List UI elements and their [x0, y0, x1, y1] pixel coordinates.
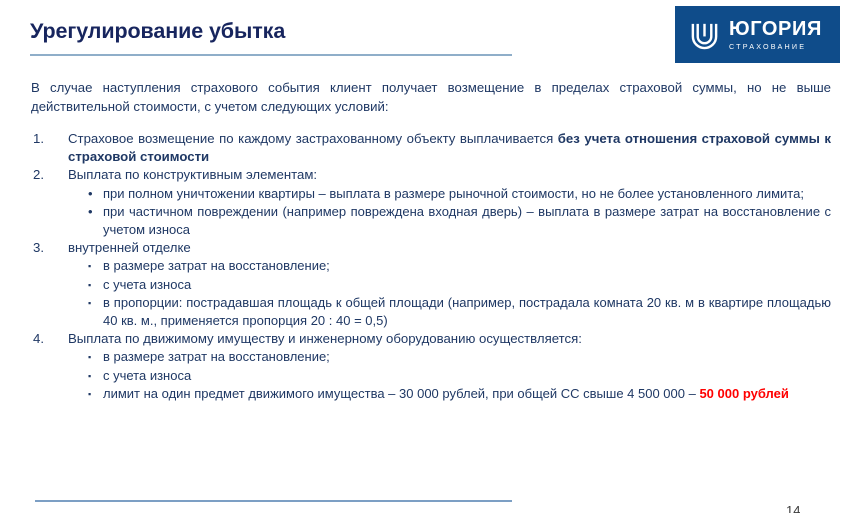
slide-header: Урегулирование убытка ЮГОРИЯ СТРАХОВАНИЕ [0, 0, 864, 72]
sub-list-item-text: при полном уничтожении квартиры – выплат… [103, 186, 804, 201]
nested-arcs-u-icon [689, 19, 720, 50]
sub-list-item: ▪ в размере затрат на восстановление; [0, 348, 864, 366]
bullet-square-icon: ▪ [88, 348, 91, 366]
bullet-square-icon: ▪ [88, 294, 91, 312]
title-divider [30, 54, 512, 56]
company-logo: ЮГОРИЯ СТРАХОВАНИЕ [675, 6, 840, 63]
limit-amount-highlight: 50 000 рублей [699, 386, 788, 401]
list-item-text: Страховое возмещение по каждому застрахо… [0, 130, 864, 166]
bullet-square-icon: ▪ [88, 385, 91, 403]
sub-list-item-text: в размере затрат на восстановление; [103, 258, 330, 273]
logo-text: ЮГОРИЯ СТРАХОВАНИЕ [729, 19, 822, 50]
bullet-square-icon: ▪ [88, 367, 91, 385]
sub-list: ▪ в размере затрат на восстановление; ▪ … [0, 348, 864, 403]
list-item-text: Выплата по конструктивным элементам: [0, 166, 864, 184]
sub-list-item-text: в пропорции: пострадавшая площадь к обще… [103, 295, 831, 328]
sub-list-item-text: с учета износа [103, 368, 191, 383]
logo-subtitle: СТРАХОВАНИЕ [729, 43, 822, 50]
numbered-list: 1. Страховое возмещение по каждому застр… [0, 130, 864, 403]
bullet-round-icon: • [88, 203, 93, 221]
bullet-round-icon: • [88, 185, 93, 203]
sub-list-item: • при частичном повреждении (например по… [0, 203, 864, 239]
bullet-square-icon: ▪ [88, 276, 91, 294]
sub-list-item: ▪ с учета износа [0, 367, 864, 385]
sub-list-item-text: лимит на один предмет движимого имуществ… [103, 386, 699, 401]
sub-list-item-text: при частичном повреждении (например повр… [103, 204, 831, 237]
intro-paragraph: В случае наступления страхового события … [31, 78, 831, 116]
bullet-square-icon: ▪ [88, 257, 91, 275]
sub-list-item-highlight: ▪ лимит на один предмет движимого имущес… [0, 385, 864, 403]
sub-list-item: ▪ в размере затрат на восстановление; [0, 257, 864, 275]
list-item: 1. Страховое возмещение по каждому застр… [0, 130, 864, 166]
list-item: 3. внутренней отделке ▪ в размере затрат… [0, 239, 864, 330]
slide: Урегулирование убытка ЮГОРИЯ СТРАХОВАНИЕ… [0, 0, 864, 513]
page-title: Урегулирование убытка [30, 19, 285, 44]
sub-list-item-text: с учета износа [103, 277, 191, 292]
list-item: 2. Выплата по конструктивным элементам: … [0, 166, 864, 239]
sub-list-item: ▪ в пропорции: пострадавшая площадь к об… [0, 294, 864, 330]
list-item-text-plain: Страховое возмещение по каждому застрахо… [68, 131, 558, 146]
list-item-text: Выплата по движимому имуществу и инженер… [0, 330, 864, 348]
sub-list-item: • при полном уничтожении квартиры – выпл… [0, 185, 864, 203]
sub-list-item-text: в размере затрат на восстановление; [103, 349, 330, 364]
sub-list: ▪ в размере затрат на восстановление; ▪ … [0, 257, 864, 330]
sub-list-item: ▪ с учета износа [0, 276, 864, 294]
list-item-text: внутренней отделке [0, 239, 864, 257]
footer-divider [35, 500, 512, 502]
page-number: 14 [786, 503, 800, 513]
sub-list: • при полном уничтожении квартиры – выпл… [0, 185, 864, 240]
logo-name: ЮГОРИЯ [729, 19, 822, 39]
list-item: 4. Выплата по движимому имуществу и инже… [0, 330, 864, 403]
